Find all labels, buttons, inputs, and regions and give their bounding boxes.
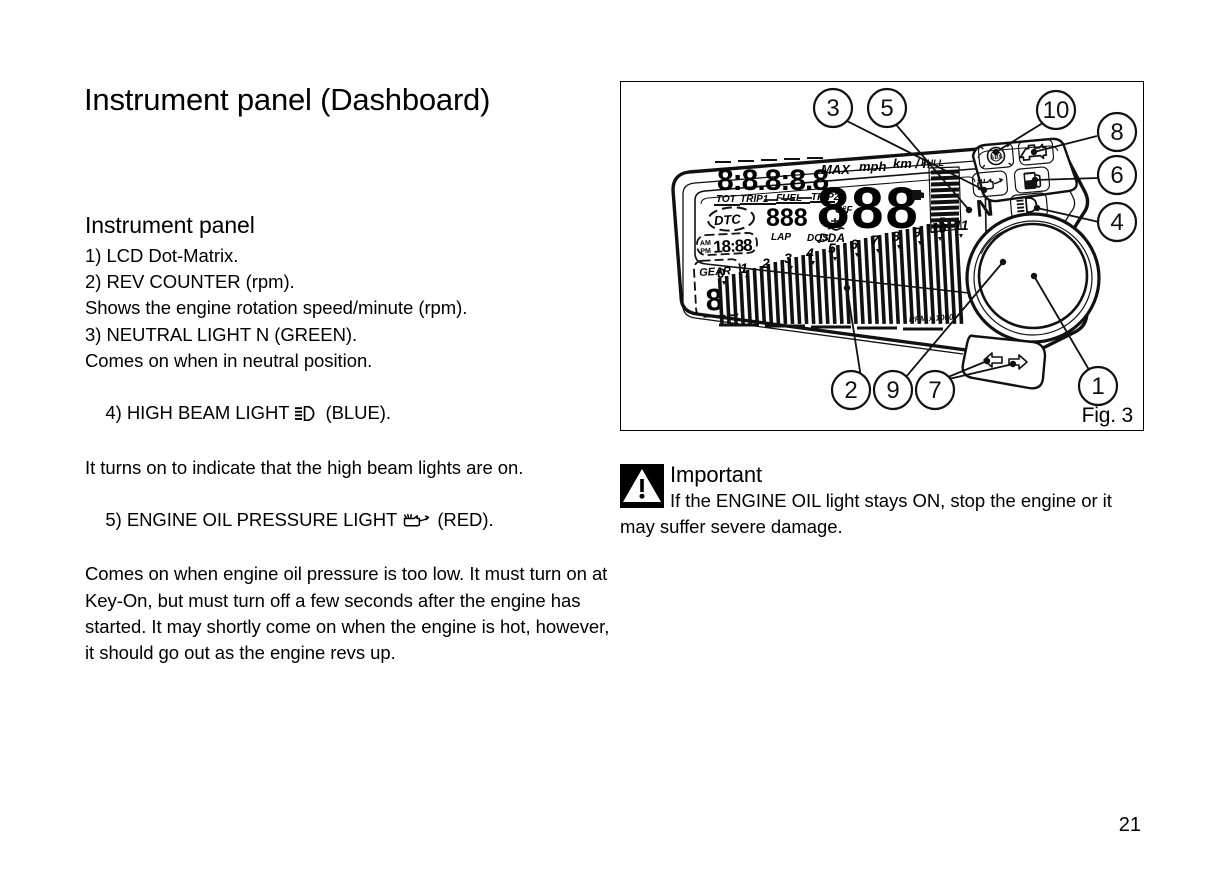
turn-signal-group [963,336,1045,389]
lcd-label-max: MAX [821,162,851,177]
lcd-label-pm: PM [700,248,711,256]
rpm-tick-7: 7 [871,232,880,248]
list-item-2: 2) REV COUNTER (rpm). [85,269,617,295]
list-item-5-description: Comes on when engine oil pressure is too… [85,561,617,666]
rpm-tick-4: 4 [805,245,814,261]
rpm-tick-11: 11 [954,217,969,233]
instrument-panel-text-column: Instrument panel 1) LCD Dot-Matrix. 2) R… [85,212,617,666]
rpm-tick-3: 3 [784,250,792,266]
high-beam-icon [295,402,321,428]
list-item-3: 3) NEUTRAL LIGHT N (GREEN). [85,322,617,348]
page-title: Instrument panel (Dashboard) [84,82,490,118]
callout-4: 4 [1098,203,1136,241]
neutral-label: N [975,194,995,222]
list-item-4: 4) HIGH BEAM LIGHT(BLUE). [85,374,617,455]
lcd-label-mph: mph [859,159,887,174]
svg-text:5: 5 [880,95,893,122]
list-item-1: 1) LCD Dot-Matrix. [85,243,617,269]
list-item-5: 5) ENGINE OIL PRESSURE LIGHT(RED). [85,481,617,562]
list-item-5-prefix: 5) ENGINE OIL PRESSURE LIGHT [105,509,397,530]
callout-10: 10 [1037,91,1075,129]
rpm-tick-10: 10 [931,220,947,236]
lcd-secondary-digits: 888 [766,204,808,232]
callout-9: 9 [874,371,912,409]
figure-instrument-panel: 8:8.8:8.8 TOT TRIP1 FUEL TRIP2 DTC 888 °… [620,81,1144,431]
rpm-tick-9: 9 [913,224,921,240]
list-item-4-prefix: 4) HIGH BEAM LIGHT [105,402,289,423]
important-callout: Important If the ENGINE OIL light stays … [620,462,1140,540]
svg-text:ABS: ABS [990,154,1003,161]
lcd-label-dtc: DTC [714,211,742,228]
callout-7: 7 [916,371,954,409]
warning-triangle-icon [620,464,664,508]
rpm-tick-1: 1 [740,260,748,276]
list-item-3-description: Comes on when in neutral position. [85,348,617,374]
callout-8: 8 [1098,113,1136,151]
callout-6: 6 [1098,156,1136,194]
list-item-5-suffix: (RED). [437,509,493,530]
section-heading: Instrument panel [85,212,617,239]
list-item-4-suffix: (BLUE). [326,402,391,423]
lcd-label-lap: LAP [771,232,791,243]
rpm-tick-6: 6 [850,236,858,252]
list-item-2-description: Shows the engine rotation speed/minute (… [85,295,617,321]
svg-text:7: 7 [928,377,941,404]
rpm-tick-5: 5 [828,240,836,256]
svg-text:2: 2 [844,377,857,404]
svg-text:9: 9 [886,377,899,404]
important-label: Important [670,462,762,487]
rpm-tick-2: 2 [761,255,770,271]
svg-text:4: 4 [1110,209,1123,236]
svg-text:3: 3 [826,95,839,122]
oil-pressure-icon [402,509,432,535]
svg-text:10: 10 [1043,97,1070,124]
svg-text:1: 1 [1091,373,1104,400]
rpm-tick-8: 8 [892,228,900,244]
callout-2: 2 [832,371,870,409]
callout-3: 3 [814,89,852,127]
page-number: 21 [1119,814,1141,837]
svg-text:8: 8 [1110,119,1123,146]
lcd-label-tot: TOT [716,194,737,205]
list-item-4-description: It turns on to indicate that the high be… [85,455,617,481]
important-text: If the ENGINE OIL light stays ON, stop t… [620,488,1140,540]
svg-text:6: 6 [1110,162,1123,189]
lcd-clock-digits: 18:88 [713,236,753,257]
lcd-label-am: AM [700,240,711,248]
dashboard-illustration: 8:8.8:8.8 TOT TRIP1 FUEL TRIP2 DTC 888 °… [621,82,1141,428]
figure-caption: Fig. 3 [1082,404,1133,428]
callout-5: 5 [868,89,906,127]
rpm-tick-0: 0 [717,265,725,281]
callout-1: 1 [1079,367,1117,405]
